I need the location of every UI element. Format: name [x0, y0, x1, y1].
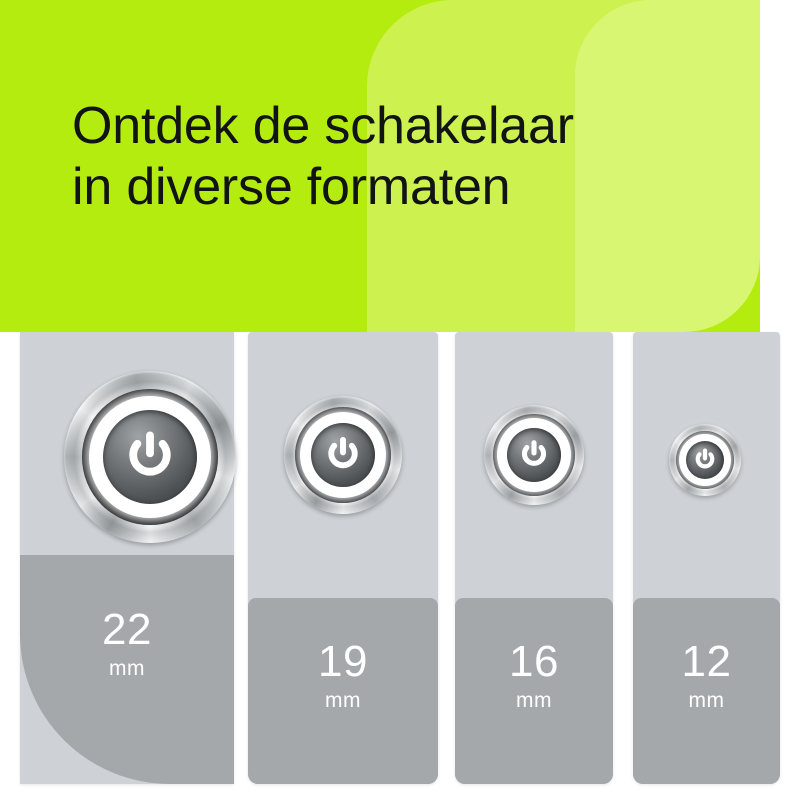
size-unit: mm	[325, 690, 361, 711]
power-icon	[686, 441, 724, 479]
power-icon	[103, 410, 197, 504]
headline-banner: Ontdek de schakelaarin diverse formaten	[0, 0, 800, 332]
size-unit: mm	[516, 690, 552, 711]
size-label-panel-16mm: 16 mm	[455, 598, 613, 784]
power-button-12mm[interactable]	[669, 424, 741, 496]
button-face	[103, 410, 197, 504]
power-button-19mm[interactable]	[284, 396, 402, 514]
page-title: Ontdek de schakelaarin diverse formaten	[72, 96, 732, 219]
power-button-16mm[interactable]	[484, 405, 584, 505]
button-face	[311, 423, 375, 487]
size-unit: mm	[109, 658, 145, 679]
product-column-12mm[interactable]: 12 mm	[633, 332, 780, 800]
size-label-panel-12mm: 12 mm	[633, 598, 780, 784]
title-line-1: Ontdek de schakelaar	[72, 97, 574, 155]
size-label-panel-19mm: 19 mm	[248, 598, 438, 784]
size-unit: mm	[689, 690, 725, 711]
power-button-22mm[interactable]	[64, 371, 236, 543]
promo-banner-image: 22 mm 19	[0, 0, 800, 800]
title-line-2: in diverse formaten	[72, 158, 510, 216]
size-value: 16	[509, 640, 559, 684]
button-face	[686, 441, 724, 479]
product-column-19mm[interactable]: 19 mm	[248, 332, 438, 800]
product-column-22mm[interactable]: 22 mm	[20, 332, 234, 800]
size-value: 22	[102, 608, 152, 652]
power-icon	[507, 428, 561, 482]
size-value: 12	[682, 640, 732, 684]
power-icon	[311, 423, 375, 487]
product-column-16mm[interactable]: 16 mm	[455, 332, 613, 800]
size-value: 19	[318, 640, 368, 684]
button-face	[507, 428, 561, 482]
